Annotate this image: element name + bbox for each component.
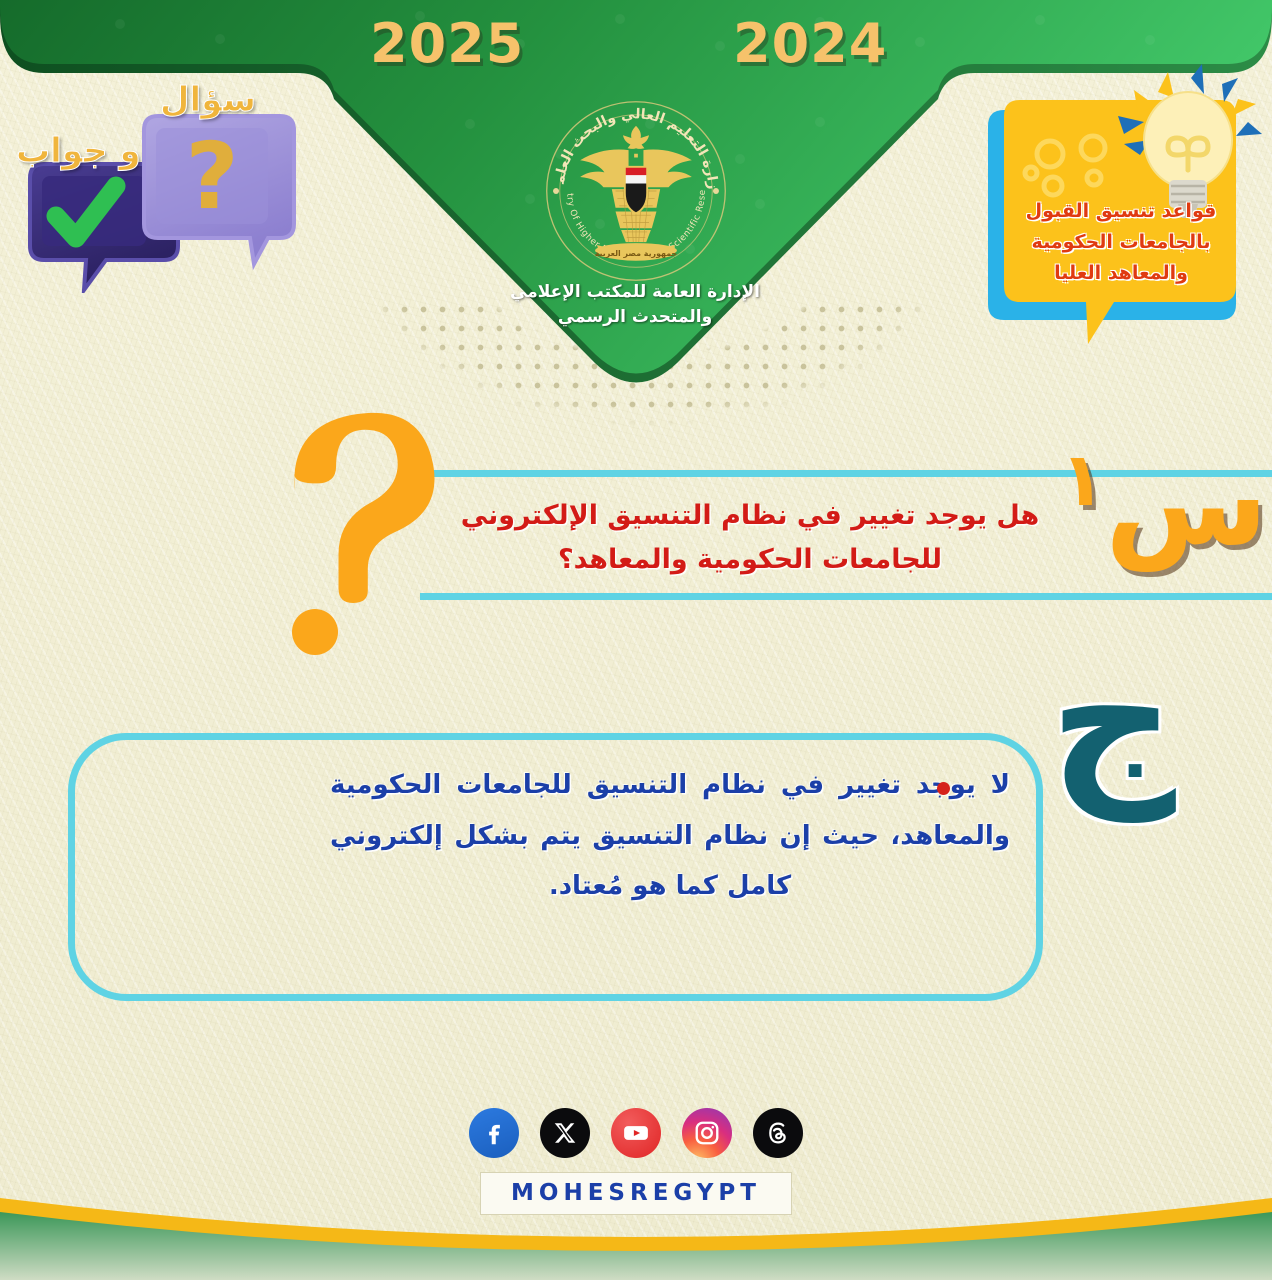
ministry-subtitle: الإدارة العامة للمكتب الإعلامي والمتحدث … xyxy=(400,280,870,329)
label-answer-word: و جواب xyxy=(16,131,141,171)
youtube-glyph xyxy=(621,1118,651,1148)
facebook-glyph xyxy=(479,1118,509,1148)
answer-bullet-dot xyxy=(937,782,950,795)
big-question-mark-icon xyxy=(258,398,448,658)
answer-text: لا يوجد تغيير في نظام التنسيق للجامعات ا… xyxy=(330,760,1010,912)
instagram-icon[interactable] xyxy=(682,1108,732,1158)
ministry-subtitle-line2: والمتحدث الرسمي xyxy=(400,305,870,330)
answer-marker: ج xyxy=(1049,632,1176,808)
rules-line-1: قواعد تنسيق القبول xyxy=(1006,196,1236,227)
svg-text:?: ? xyxy=(185,123,238,230)
rules-line-3: والمعاهد العليا xyxy=(1006,258,1236,289)
x-glyph xyxy=(552,1120,578,1146)
question-text: هل يوجد تغيير في نظام التنسيق الإلكتروني… xyxy=(400,494,1100,581)
threads-glyph xyxy=(764,1119,792,1147)
social-media-row xyxy=(0,1108,1272,1158)
question-marker-letter: س xyxy=(1105,433,1268,571)
social-handle-box[interactable]: MOHESREGYPT xyxy=(0,1172,1272,1215)
facebook-icon[interactable] xyxy=(469,1108,519,1158)
youtube-icon[interactable] xyxy=(611,1108,661,1158)
question-marker: س١ xyxy=(1060,443,1268,561)
question-marker-number: ١ xyxy=(1060,437,1105,523)
instagram-glyph xyxy=(693,1119,721,1147)
admission-rules-text: قواعد تنسيق القبول بالجامعات الحكومية وا… xyxy=(1006,196,1236,288)
social-handle-text: MOHESREGYPT xyxy=(480,1172,792,1215)
x-twitter-icon[interactable] xyxy=(540,1108,590,1158)
qa-speech-bubbles-graphic: ? xyxy=(8,78,308,293)
label-question-word: سؤال xyxy=(160,80,256,120)
egypt-ministry-emblem-logo: وزارة التعليم العالي والبحث العلمي Minis… xyxy=(543,98,729,284)
ministry-subtitle-line1: الإدارة العامة للمكتب الإعلامي xyxy=(400,280,870,305)
svg-text:جمهورية مصر العربية: جمهورية مصر العربية xyxy=(595,249,678,258)
threads-icon[interactable] xyxy=(753,1108,803,1158)
year-label-right: 2024 xyxy=(733,12,887,75)
year-label-left: 2025 xyxy=(370,12,524,75)
rules-line-2: بالجامعات الحكومية xyxy=(1006,227,1236,258)
